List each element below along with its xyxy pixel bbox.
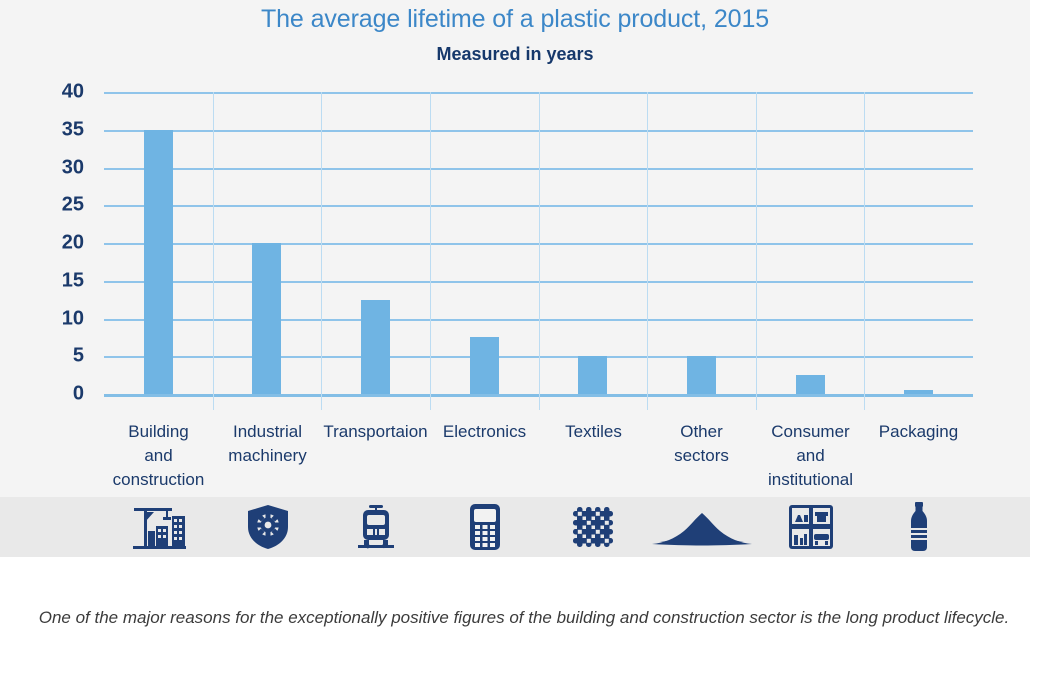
y-tick-label: 0 xyxy=(24,383,84,406)
gridline-x-4 xyxy=(539,92,540,410)
y-tick-label: 40 xyxy=(24,81,84,104)
y-tick-label: 5 xyxy=(24,345,84,368)
bar xyxy=(796,375,825,394)
plot-area xyxy=(104,92,973,394)
bar xyxy=(687,356,716,394)
shield-gear-icon xyxy=(213,497,322,557)
chart-subtitle: Measured in years xyxy=(0,44,1030,65)
bar xyxy=(578,356,607,394)
y-tick-label: 10 xyxy=(24,307,84,330)
shelving-goods-icon xyxy=(756,497,865,557)
bar xyxy=(361,300,390,394)
infographic-page: The average lifetime of a plastic produc… xyxy=(0,0,1048,679)
gridline-x-7 xyxy=(864,92,865,410)
train-icon xyxy=(321,497,430,557)
category-label-line: machinery xyxy=(203,444,332,468)
category-label-line: construction xyxy=(94,468,223,492)
gridline-x-2 xyxy=(321,92,322,410)
category-label-line: and xyxy=(746,444,875,468)
right-margin xyxy=(1030,0,1048,557)
gridline-x-5 xyxy=(647,92,648,410)
category-labels: BuildingandconstructionIndustrialmachine… xyxy=(104,420,973,495)
construction-crane-icon xyxy=(104,497,213,557)
chart-panel: The average lifetime of a plastic produc… xyxy=(0,0,1030,497)
textile-weave-icon xyxy=(539,497,648,557)
y-tick-label: 15 xyxy=(24,269,84,292)
gridline-x-3 xyxy=(430,92,431,410)
y-tick-label: 30 xyxy=(24,156,84,179)
sector-icon-strip xyxy=(0,497,1030,557)
caption-text: One of the major reasons for the excepti… xyxy=(24,602,1024,634)
material-pile-icon xyxy=(647,497,756,557)
bar xyxy=(252,243,281,394)
y-tick-label: 20 xyxy=(24,232,84,255)
bar xyxy=(904,390,933,394)
bar xyxy=(470,337,499,394)
plastic-bottle-icon xyxy=(864,497,973,557)
mobile-phone-icon xyxy=(430,497,539,557)
caption-area: One of the major reasons for the excepti… xyxy=(0,586,1048,679)
category-label-line: institutional xyxy=(746,468,875,492)
bar xyxy=(144,130,173,394)
category-label-line: Packaging xyxy=(854,420,983,444)
gridline-x-1 xyxy=(213,92,214,410)
y-tick-label: 35 xyxy=(24,118,84,141)
gridline-x-6 xyxy=(756,92,757,410)
y-axis-ticks: 4035302520151050 xyxy=(20,92,84,394)
category-label: Packaging xyxy=(854,420,983,444)
y-tick-label: 25 xyxy=(24,194,84,217)
chart-title: The average lifetime of a plastic produc… xyxy=(0,5,1030,34)
